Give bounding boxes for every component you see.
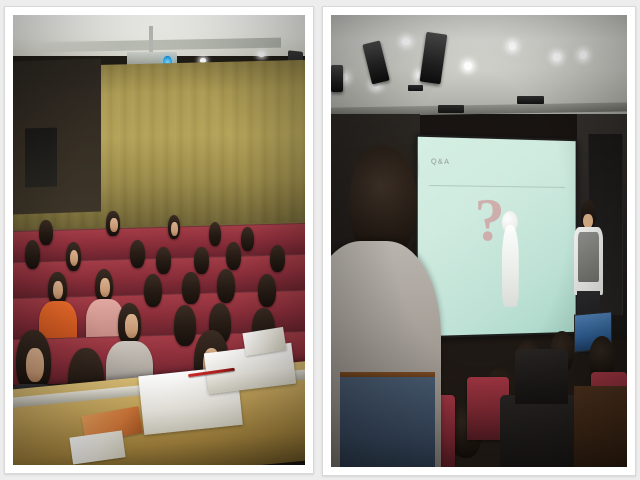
audience-face (171, 222, 178, 236)
composite-photo-page: Q&A ? (0, 0, 640, 480)
ceiling-spot-light-icon (402, 38, 410, 46)
audience-head (144, 274, 162, 307)
audience-head (217, 269, 235, 302)
ceiling-spot-light-icon (464, 62, 472, 70)
audience-head (226, 242, 241, 270)
photo-card-right[interactable]: Q&A ? (322, 6, 636, 476)
slide-title: Q&A (431, 159, 450, 167)
figure-body-icon (501, 225, 518, 307)
photo-card-left[interactable] (4, 6, 314, 474)
ceiling-vent (517, 96, 544, 103)
audience-head (39, 220, 52, 245)
ceiling-vent (438, 105, 465, 112)
projection-screen[interactable]: Q&A ? (415, 135, 577, 339)
audience-head (194, 247, 209, 274)
audience-head (209, 222, 222, 246)
foreground-attendee-jeans (340, 377, 435, 467)
audience-face (26, 348, 44, 382)
lecture-hall-audience-photo[interactable] (13, 15, 305, 465)
wooden-floor (574, 386, 627, 467)
stage-light-icon (331, 65, 343, 92)
audience-face (125, 314, 137, 337)
wall-alcove (25, 127, 57, 187)
projector-mount (149, 26, 154, 53)
audience-head (25, 240, 41, 269)
audience-head (174, 305, 196, 346)
presenter-vest (578, 232, 599, 282)
audience-head (130, 240, 145, 268)
question-mark-icon: ? (474, 189, 504, 249)
audience-face (100, 278, 110, 297)
ceiling-light-icon (258, 52, 264, 57)
presenter-face (583, 214, 592, 228)
audience-head (241, 227, 254, 251)
presenter-qa-photo[interactable]: Q&A ? (331, 15, 627, 467)
audience-head (156, 247, 171, 274)
seat-back (515, 349, 568, 403)
slide-surface: Q&A ? (418, 137, 576, 336)
ceiling-spot-light-icon (553, 53, 561, 61)
ceiling-spot-light-icon (509, 42, 517, 50)
audience-head (270, 245, 285, 273)
ceiling-spot-light-icon (580, 51, 588, 59)
audience-head (258, 274, 276, 307)
audience-face (110, 218, 118, 232)
audience-head (182, 272, 200, 304)
ceiling-vent (408, 85, 423, 91)
